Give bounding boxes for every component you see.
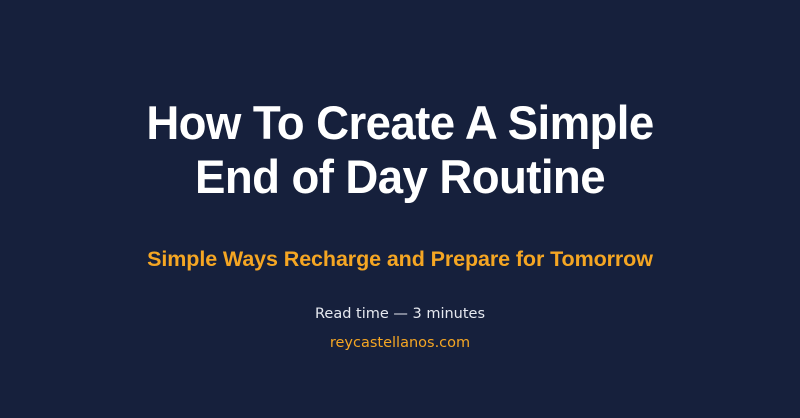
page-subtitle: Simple Ways Recharge and Prepare for Tom… — [56, 245, 744, 273]
page-title: How To Create A Simple End of Day Routin… — [109, 96, 691, 204]
title-card: How To Create A Simple End of Day Routin… — [0, 0, 800, 418]
read-time-label: Read time — 3 minutes — [56, 304, 744, 325]
card-content: How To Create A Simple End of Day Routin… — [0, 96, 800, 354]
card-meta: Read time — 3 minutes reycastellanos.com — [56, 304, 744, 354]
site-domain-label[interactable]: reycastellanos.com — [56, 333, 744, 354]
